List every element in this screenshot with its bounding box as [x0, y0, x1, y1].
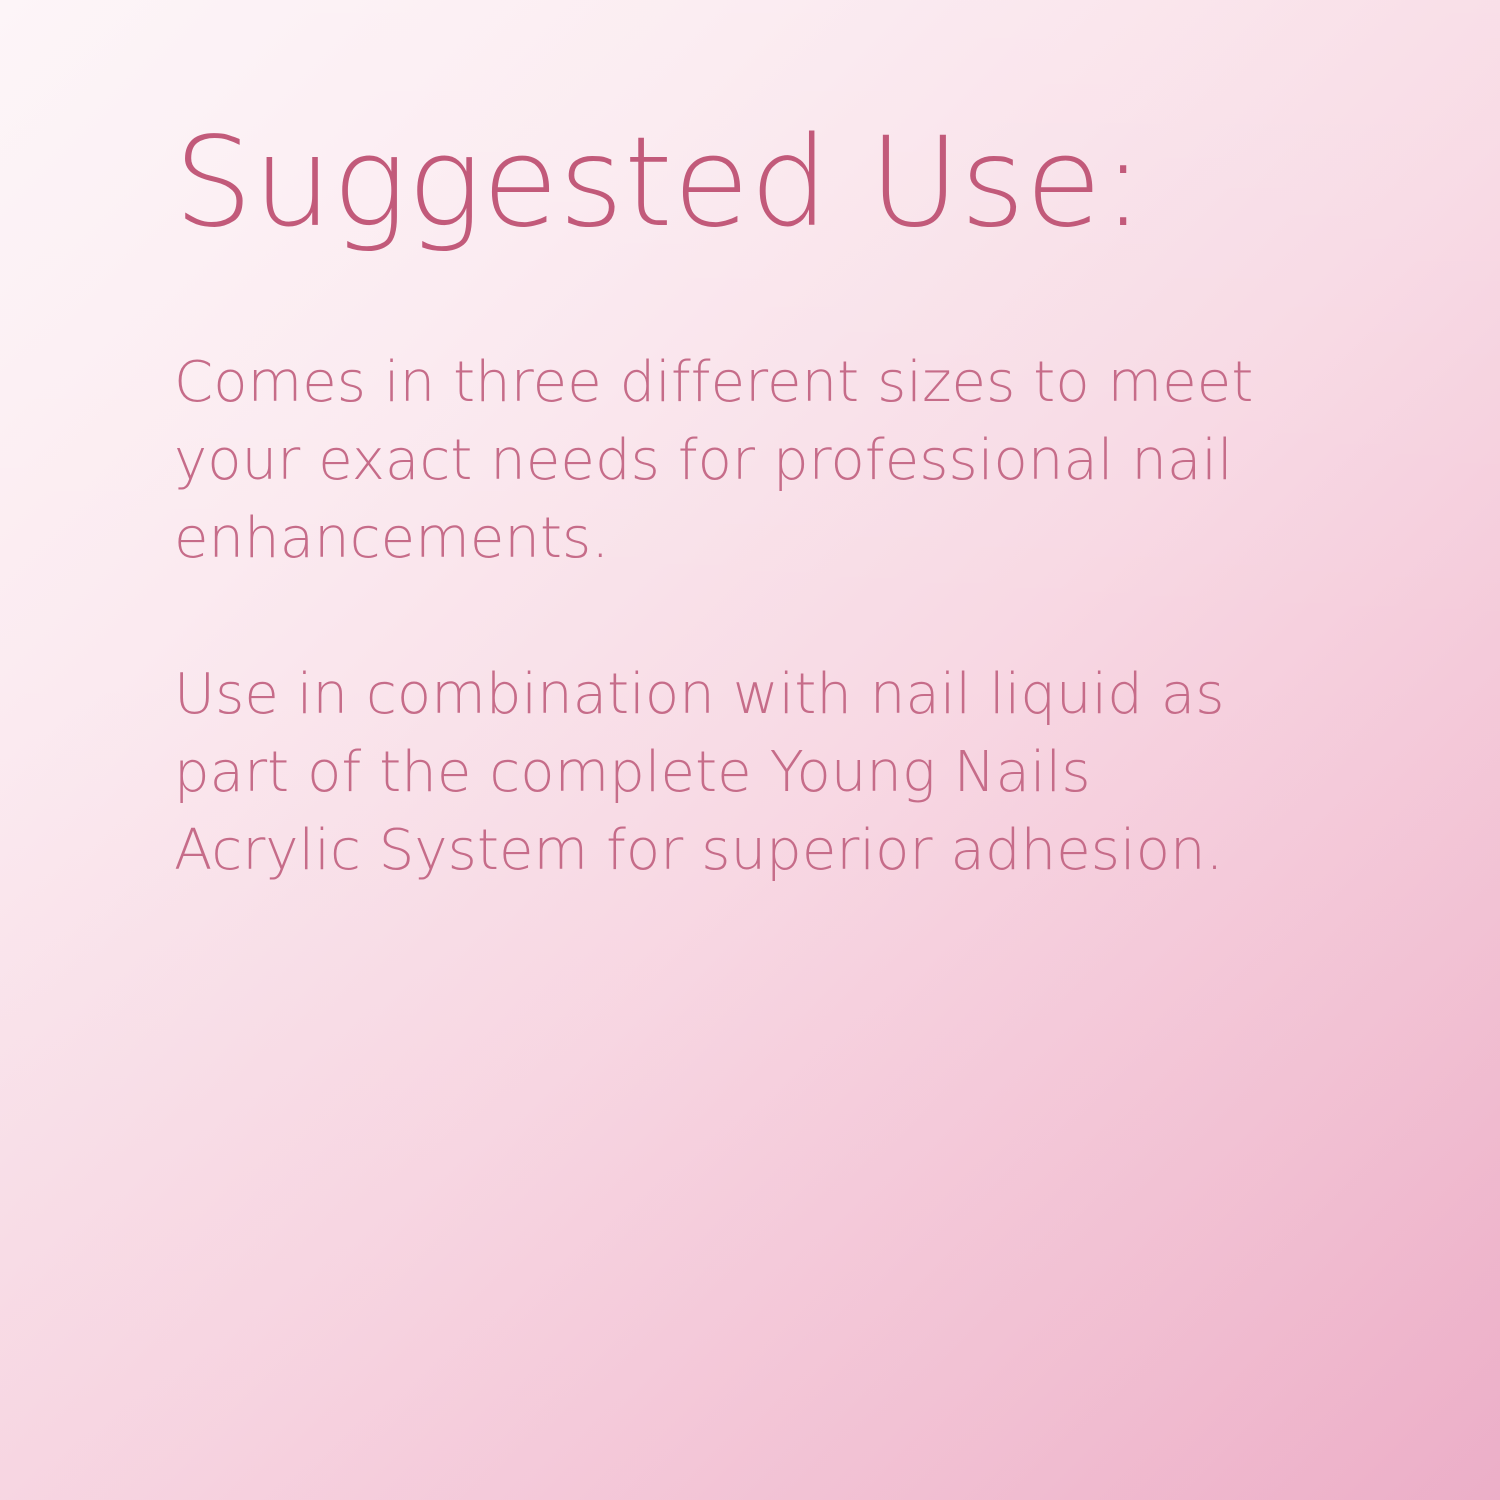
- paragraph-line: part of the complete Young Nails: [174, 734, 1269, 812]
- paragraph-line: your exact needs for professional nail: [174, 422, 1269, 500]
- page-title: Suggested Use:: [174, 118, 1269, 248]
- paragraph-line: Comes in three different sizes to meet: [174, 344, 1269, 422]
- text-column: Suggested Use: Comes in three different …: [174, 118, 1269, 890]
- suggested-use-paragraph-2: Use in combination with nail liquid as p…: [174, 656, 1269, 890]
- suggested-use-paragraph-1: Comes in three different sizes to meet y…: [174, 344, 1269, 578]
- paragraph-line: Acrylic System for superior adhesion.: [174, 812, 1269, 890]
- paragraph-line: Use in combination with nail liquid as: [174, 656, 1269, 734]
- product-info-panel: Suggested Use: Comes in three different …: [0, 0, 1500, 1500]
- paragraph-line: enhancements.: [174, 500, 1269, 578]
